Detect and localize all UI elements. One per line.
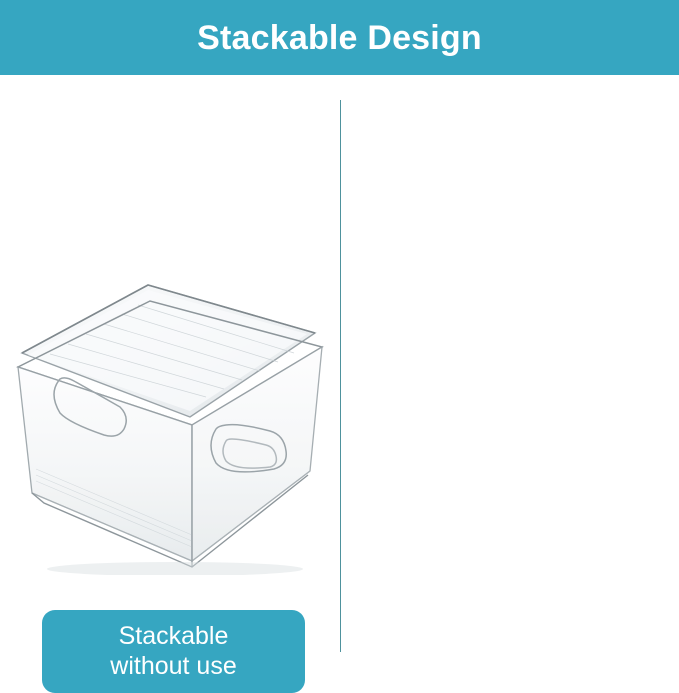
header-banner: Stackable Design — [0, 0, 679, 75]
caption-line-2: without use — [110, 652, 236, 682]
panel-stackable-without-use: Stackable without use — [0, 75, 340, 662]
caption-line-1: Stackable — [110, 622, 236, 652]
vertical-divider — [340, 100, 341, 652]
page-title: Stackable Design — [197, 21, 482, 55]
caption-stackable-without-use: Stackable without use — [42, 610, 305, 693]
panel-stackable-with-lids: ONE ONE — [340, 75, 679, 662]
product-image-single-bin — [10, 275, 330, 575]
